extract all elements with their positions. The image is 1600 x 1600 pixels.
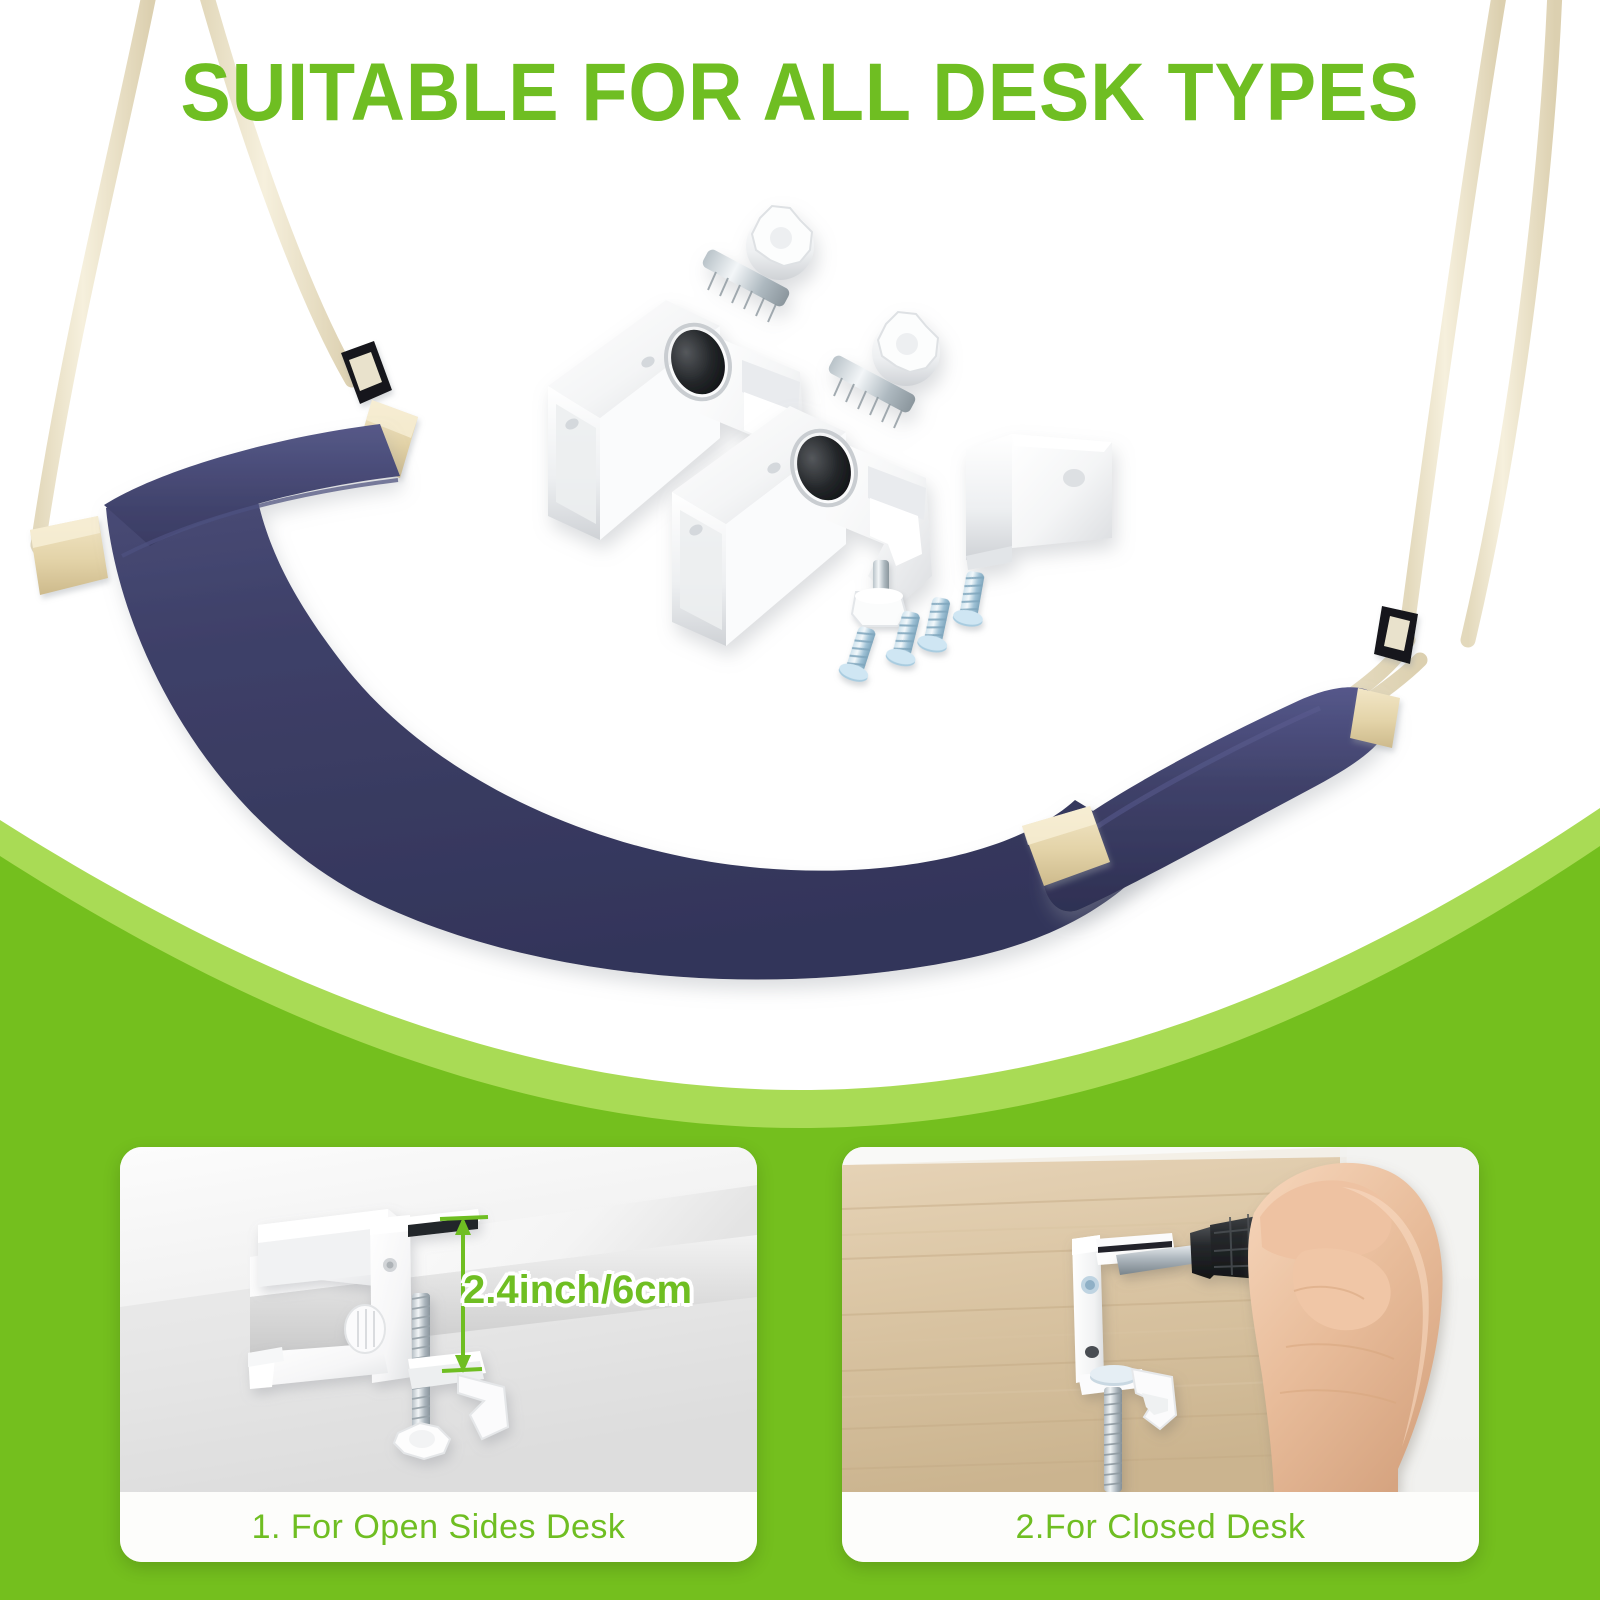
cord-lock-right xyxy=(1374,606,1418,664)
infographic-canvas: SUITABLE FOR ALL DESK TYPES xyxy=(0,0,1600,1600)
clamp-adjuster-wheel xyxy=(345,1305,385,1353)
cord-lock-left xyxy=(341,341,392,404)
wood-dowel-bolster-end xyxy=(1350,688,1400,748)
open-desk-scene-svg xyxy=(120,1147,757,1492)
closed-desk-scene-svg xyxy=(842,1147,1479,1492)
page-title: SUITABLE FOR ALL DESK TYPES xyxy=(64,52,1536,134)
l-bracket xyxy=(966,432,1112,570)
screw-1 xyxy=(837,623,883,685)
photo-closed-desk xyxy=(842,1147,1479,1492)
card-caption-open-sides-desk: 1. For Open Sides Desk xyxy=(120,1492,757,1562)
screw-3 xyxy=(916,595,957,655)
screw-4 xyxy=(952,569,991,628)
card-closed-desk[interactable]: 2.For Closed Desk xyxy=(842,1147,1479,1562)
thumb-knob-1 xyxy=(746,206,814,280)
card-open-sides-desk[interactable]: 1. For Open Sides Desk xyxy=(120,1147,757,1562)
photo-open-sides-desk xyxy=(120,1147,757,1492)
thumb-knob-2 xyxy=(872,312,940,386)
card-caption-closed-desk: 2.For Closed Desk xyxy=(842,1492,1479,1562)
wood-dowel-left xyxy=(30,516,108,595)
